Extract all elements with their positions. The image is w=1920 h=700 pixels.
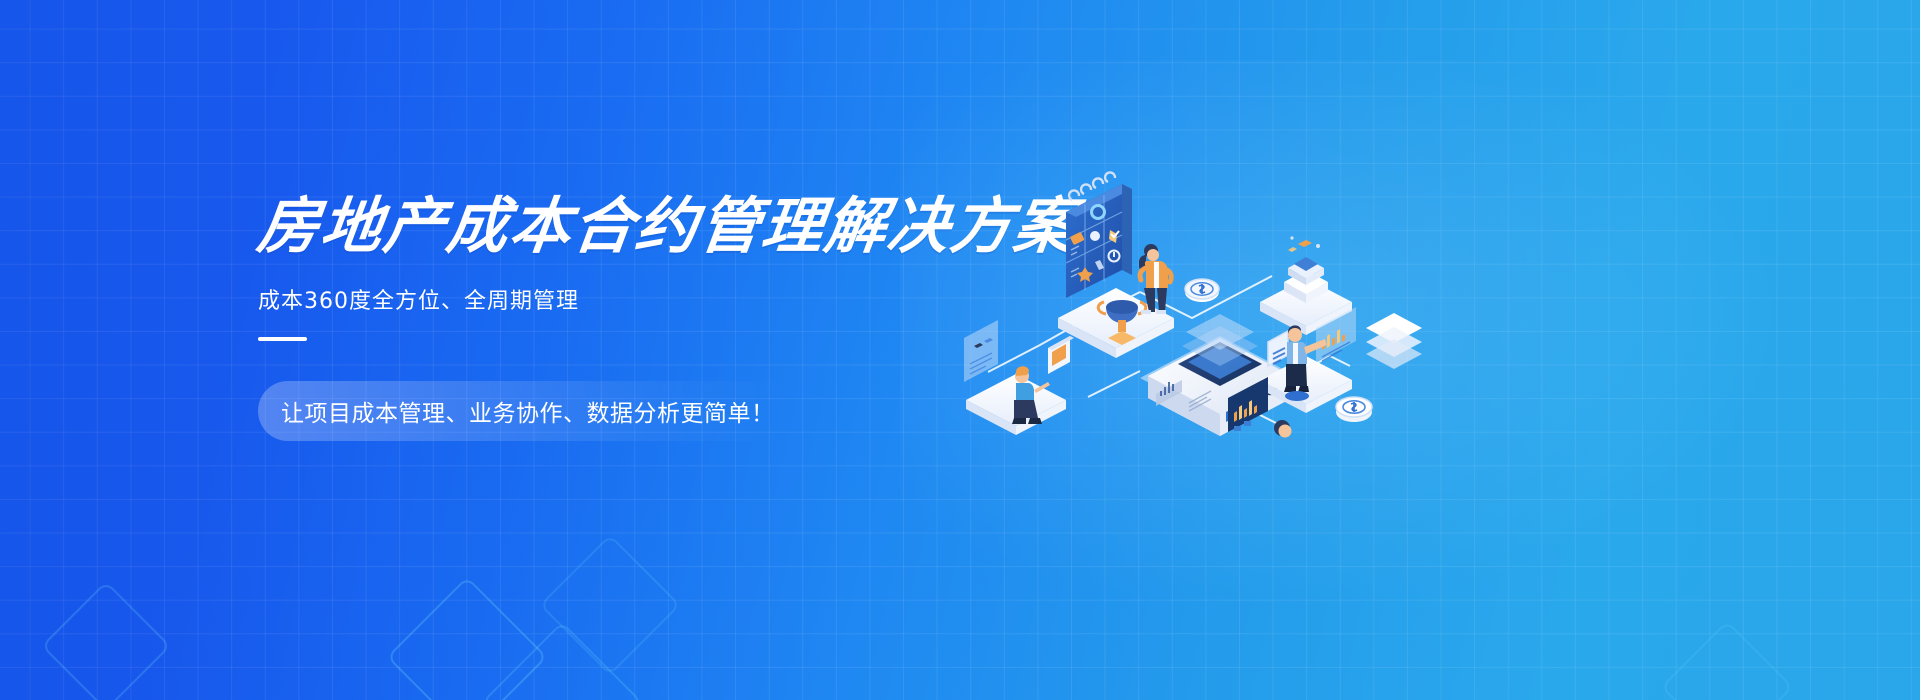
decor-diamond-4	[539, 534, 680, 675]
hero-copy: 房地产成本合约管理解决方案 成本360度全方位、全周期管理 让项目成本管理、业务…	[258, 196, 1018, 341]
hero-tagline: 让项目成本管理、业务协作、数据分析更简单！	[258, 394, 775, 428]
document-card-small	[1268, 331, 1288, 366]
coin-dollar-lower	[1336, 397, 1372, 422]
stacked-plates	[1366, 313, 1422, 369]
tagline-pill: 让项目成本管理、业务协作、数据分析更简单！	[258, 381, 794, 441]
calendar-platform	[1058, 288, 1174, 358]
hero-subtitle: 成本360度全方位、全周期管理	[258, 283, 1018, 315]
upload-cube	[1284, 236, 1328, 303]
coin-dollar-upper	[1185, 279, 1219, 302]
decor-diamond-3	[481, 621, 642, 700]
decor-diamond-1	[41, 581, 171, 700]
bottom-woman	[1274, 420, 1297, 440]
calendar-board	[1066, 172, 1132, 298]
document-screen	[964, 320, 998, 382]
tablet-card	[1048, 336, 1074, 374]
decor-diamond-2	[386, 576, 547, 700]
title-divider	[258, 337, 307, 341]
hero-banner: 房地产成本合约管理解决方案 成本360度全方位、全周期管理 让项目成本管理、业务…	[0, 0, 1920, 700]
decor-diamond-5	[1661, 621, 1794, 700]
page-title: 房地产成本合约管理解决方案	[254, 196, 1021, 257]
isometric-cost-management-illustration	[930, 150, 1430, 440]
